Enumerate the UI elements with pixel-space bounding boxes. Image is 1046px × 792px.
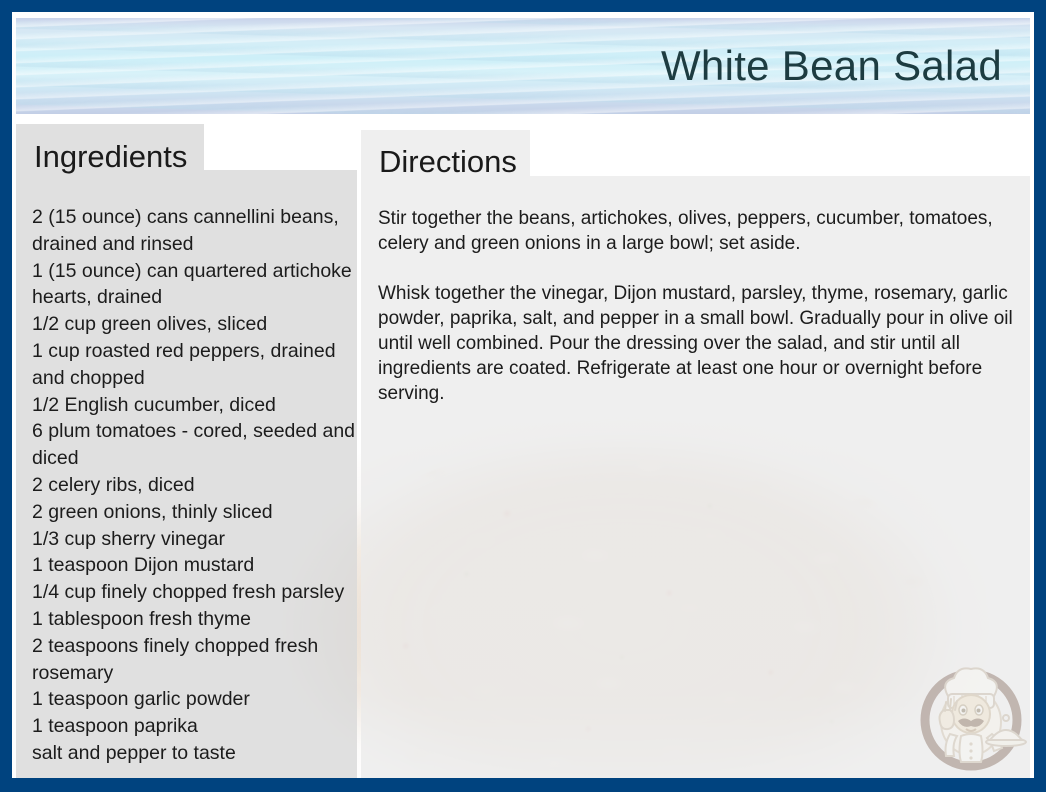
ingredient-item: 1 teaspoon paprika [32,713,360,740]
ingredient-item: 2 celery ribs, diced [32,472,360,499]
ingredient-item: 2 teaspoons finely chopped fresh rosemar… [32,633,360,687]
recipe-page: White Bean Salad Ingredients 2 (15 ounce… [0,0,1046,792]
ingredient-item: 1 cup roasted red peppers, drained and c… [32,338,360,392]
directions-heading-notch [530,130,1030,176]
ingredient-item: 1/2 cup green olives, sliced [32,311,360,338]
direction-paragraph: Whisk together the vinegar, Dijon mustar… [378,281,1034,406]
ingredient-item: 1/3 cup sherry vinegar [32,526,360,553]
ingredient-item: 1 tablespoon fresh thyme [32,606,360,633]
ingredient-item: 1 teaspoon garlic powder [32,686,360,713]
ingredient-item: 2 green onions, thinly sliced [32,499,360,526]
ingredient-item: 1 teaspoon Dijon mustard [32,552,360,579]
ingredient-item: 2 (15 ounce) cans cannellini beans, drai… [32,204,360,258]
ingredient-item: salt and pepper to taste [32,740,360,767]
ingredient-item: 1/4 cup finely chopped fresh parsley [32,579,360,606]
ingredients-list: 2 (15 ounce) cans cannellini beans, drai… [32,204,360,767]
title-banner: White Bean Salad [16,18,1030,114]
directions-heading: Directions [379,146,517,177]
directions-body: Stir together the beans, artichokes, oli… [378,206,1034,406]
ingredient-item: 1/2 English cucumber, diced [32,392,360,419]
ingredient-item: 1 (15 ounce) can quartered artichoke hea… [32,258,360,312]
direction-paragraph: Stir together the beans, artichokes, oli… [378,206,1034,256]
ingredients-heading-notch [204,124,357,170]
page-title: White Bean Salad [661,44,1002,88]
ingredient-item: 6 plum tomatoes - cored, seeded and dice… [32,418,360,472]
chef-mascot-logo [906,648,1034,778]
ingredients-heading: Ingredients [34,141,187,172]
recipe-sheet: White Bean Salad Ingredients 2 (15 ounce… [12,12,1034,778]
